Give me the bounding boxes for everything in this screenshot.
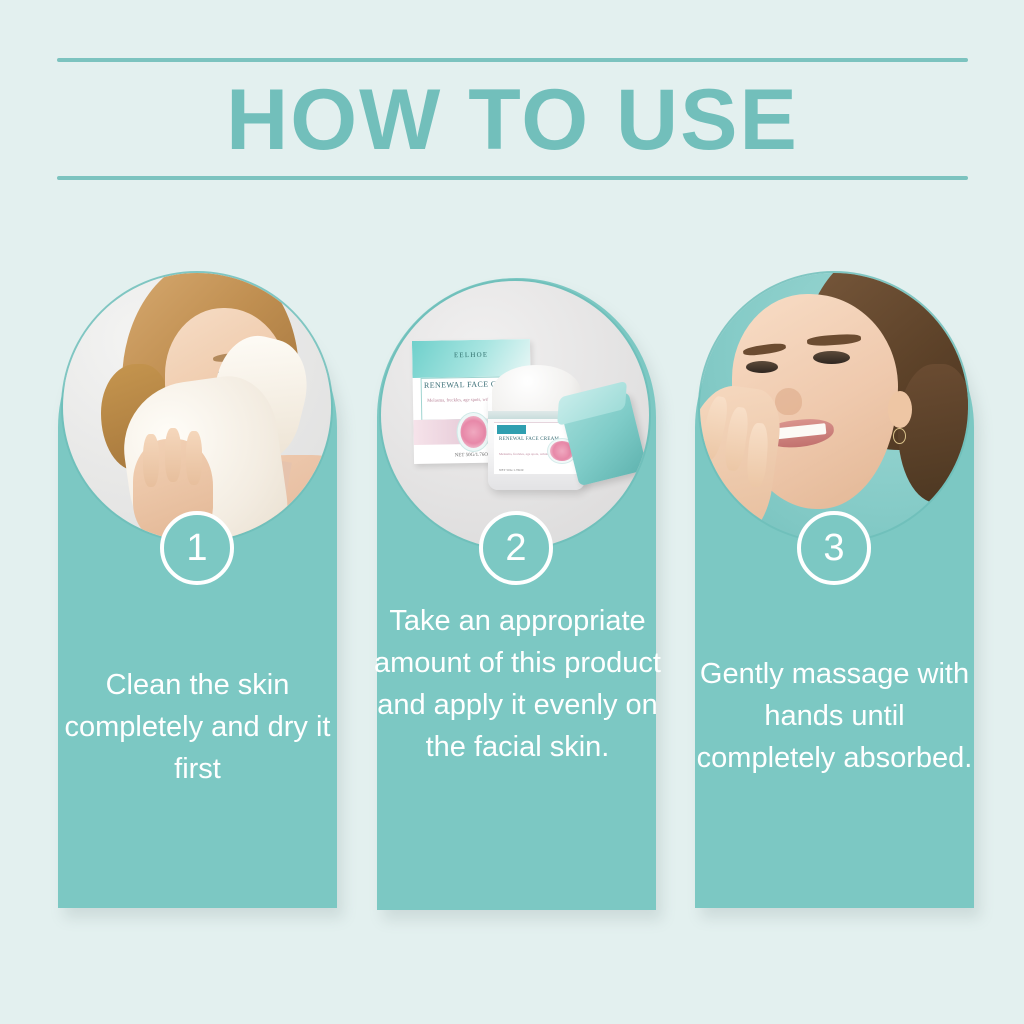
step-number-badge-3: 3	[797, 511, 871, 585]
jar-product-name-label: RENEWAL FACE CREAM	[499, 437, 559, 443]
nose-shape	[775, 388, 802, 415]
eye-shape	[746, 361, 778, 373]
jar-net-weight-label: NET 50G/1.76OZ	[499, 468, 524, 472]
woman-touching-cheek-photo	[700, 273, 968, 541]
woman-wiping-face-with-towel-photo	[63, 273, 331, 541]
ear-shape	[888, 391, 912, 429]
face-cream-jar-and-box-product-photo: EELHOE RENEWAL FACE CREAM Melasma, freck…	[381, 281, 649, 549]
finger-shape	[165, 428, 181, 482]
steps-container: EELHOE RENEWAL FACE CREAM Melasma, freck…	[0, 0, 1024, 1024]
step-caption-2: Take an appropriate amount of this produ…	[373, 600, 662, 768]
step-2-photo: EELHOE RENEWAL FACE CREAM Melasma, freck…	[381, 281, 649, 549]
finger-shape	[186, 431, 202, 485]
jar-brand-badge	[497, 425, 526, 433]
eye-shape	[813, 351, 851, 364]
rose-emblem-icon	[461, 416, 487, 448]
step-3-photo	[700, 273, 968, 541]
step-number-badge-2: 2	[479, 511, 553, 585]
how-to-use-infographic: HOW TO USE	[0, 0, 1024, 1024]
step-number-badge-1: 1	[160, 511, 234, 585]
earring-icon	[893, 428, 906, 443]
step-1-photo	[63, 273, 331, 541]
step-caption-3: Gently massage with hands until complete…	[695, 653, 974, 779]
step-caption-1: Clean the skin completely and dry it fir…	[58, 664, 337, 790]
finger-shape	[143, 434, 159, 488]
